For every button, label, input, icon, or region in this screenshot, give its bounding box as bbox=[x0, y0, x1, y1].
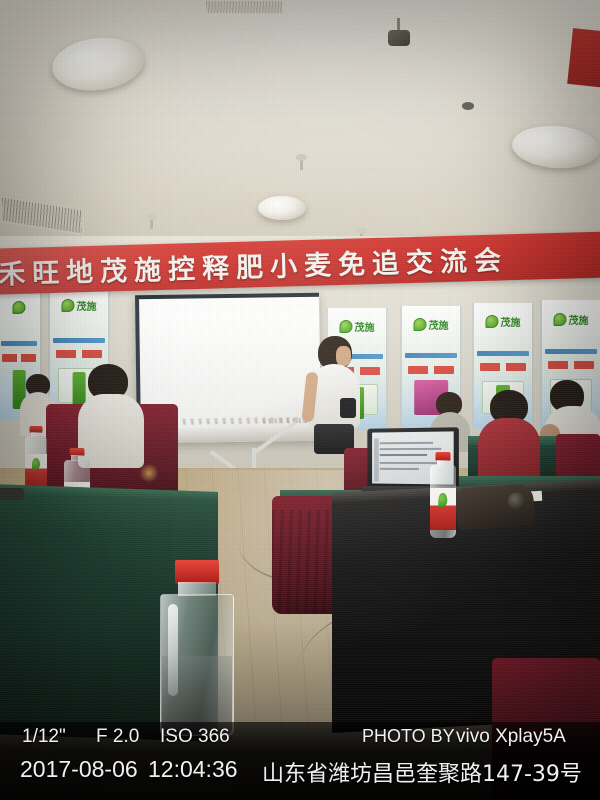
rollup-brand-label: 茂施 bbox=[429, 317, 449, 332]
leaf-logo-icon bbox=[13, 301, 26, 314]
bottle-cap bbox=[175, 560, 219, 584]
rollup-brand-label: 茂施 bbox=[501, 314, 521, 329]
leaf-logo-icon bbox=[62, 299, 75, 312]
aperture-value: F 2.0 bbox=[96, 726, 139, 748]
exif-row: 1/12" F 2.0 ISO 366 PHOTO BY vivo Xplay5… bbox=[0, 726, 600, 756]
sprinkler-head-icon bbox=[150, 218, 153, 229]
foreground-water-bottle bbox=[160, 560, 234, 736]
camera-bag bbox=[455, 483, 536, 530]
photo-canvas: 茂施 茂施 茂施 茂施 bbox=[0, 0, 600, 800]
capture-time-value: 12:04:36 bbox=[148, 756, 238, 783]
leaf-logo-icon bbox=[486, 315, 499, 328]
leaf-logo-icon bbox=[340, 320, 353, 333]
event-banner-tail bbox=[567, 28, 600, 88]
capture-location-value: 山东省潍坊昌邑奎聚路147-39号 bbox=[262, 756, 582, 788]
projector-mount bbox=[388, 18, 410, 48]
leaf-logo-icon bbox=[554, 313, 567, 326]
rollup-brand-label: 茂施 bbox=[77, 298, 97, 313]
timestamp-row: 2017-08-06 12:04:36 山东省潍坊昌邑奎聚路147-39号 bbox=[0, 756, 600, 792]
ceiling-dome-light bbox=[258, 196, 306, 220]
bottle-label bbox=[430, 488, 456, 530]
iso-value: ISO 366 bbox=[160, 726, 230, 748]
ceiling-smoke-detector bbox=[462, 102, 474, 110]
photo-info-overlay: 1/12" F 2.0 ISO 366 PHOTO BY vivo Xplay5… bbox=[0, 722, 600, 800]
shutter-speed-value: 1/12" bbox=[22, 726, 66, 748]
sprinkler-head-icon bbox=[300, 158, 303, 170]
water-bottle bbox=[430, 452, 456, 538]
bottle-label bbox=[25, 454, 47, 488]
ceiling-air-vent bbox=[206, 1, 282, 13]
photo-by-label: PHOTO BY bbox=[362, 726, 455, 747]
capture-date-value: 2017-08-06 bbox=[20, 756, 138, 783]
leaf-logo-icon bbox=[414, 318, 427, 331]
rollup-brand-label: 茂施 bbox=[355, 319, 375, 334]
device-model-value: vivo Xplay5A bbox=[456, 726, 566, 748]
presenter-person bbox=[306, 336, 368, 466]
rollup-brand-label: 茂施 bbox=[569, 312, 589, 327]
handheld-device bbox=[340, 398, 356, 418]
attendee-person bbox=[478, 390, 542, 486]
desk-object bbox=[0, 488, 24, 500]
